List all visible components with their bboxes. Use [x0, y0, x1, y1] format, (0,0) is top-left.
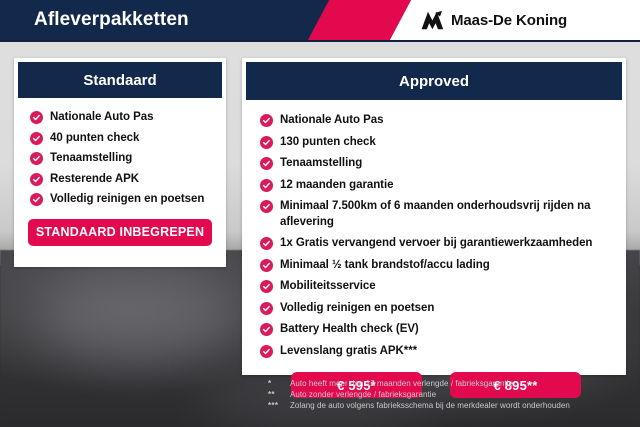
footnote-row: ***Zolang de auto volgens fabrieksschema…	[268, 401, 628, 410]
check-circle-icon	[260, 237, 273, 250]
check-circle-icon	[30, 111, 43, 124]
check-circle-icon	[260, 302, 273, 315]
check-circle-icon	[260, 157, 273, 170]
footnote-text: Auto heeft meer dan 12 maanden verlengde…	[290, 379, 513, 388]
feature-item: Tenaamstelling	[260, 156, 612, 172]
footnote-marker: ***	[268, 401, 290, 410]
approved-card-body: Nationale Auto Pas130 punten checkTenaam…	[242, 100, 626, 398]
footnote-marker: **	[268, 390, 290, 399]
feature-item: Resterende APK	[30, 172, 214, 188]
feature-label: Minimaal 7.500km of 6 maanden onderhouds…	[280, 199, 612, 230]
standaard-feature-list: Nationale Auto Pas40 punten checkTenaams…	[30, 110, 214, 208]
feature-item: Volledig reinigen en poetsen	[30, 192, 214, 208]
check-circle-icon	[30, 193, 43, 206]
footnote-marker: *	[268, 379, 290, 388]
blur-blob	[40, 270, 240, 360]
check-circle-icon	[30, 173, 43, 186]
feature-item: 130 punten check	[260, 135, 612, 151]
feature-label: Tenaamstelling	[50, 151, 132, 167]
feature-label: Volledig reinigen en poetsen	[280, 301, 434, 317]
check-circle-icon	[30, 132, 43, 145]
check-circle-icon	[260, 280, 273, 293]
page-title: Afleverpakketten	[34, 9, 189, 31]
feature-item: Battery Health check (EV)	[260, 322, 612, 338]
feature-label: Tenaamstelling	[280, 156, 362, 172]
check-circle-icon	[260, 345, 273, 358]
feature-label: Levenslang gratis APK***	[280, 344, 417, 360]
feature-label: Resterende APK	[50, 172, 139, 188]
brand-logo: Maas-De Koning	[420, 10, 567, 31]
footnote-row: *Auto heeft meer dan 12 maanden verlengd…	[268, 379, 628, 388]
feature-item: Tenaamstelling	[30, 151, 214, 167]
feature-item: 12 maanden garantie	[260, 178, 612, 194]
feature-item: Levenslang gratis APK***	[260, 344, 612, 360]
check-circle-icon	[260, 259, 273, 272]
feature-label: Battery Health check (EV)	[280, 322, 419, 338]
standaard-card-body: Nationale Auto Pas40 punten checkTenaams…	[14, 98, 226, 208]
feature-item: Minimaal ½ tank brandstof/accu lading	[260, 258, 612, 274]
feature-item: Nationale Auto Pas	[260, 113, 612, 129]
check-circle-icon	[260, 179, 273, 192]
standaard-package-card: Standaard Nationale Auto Pas40 punten ch…	[14, 58, 226, 267]
feature-label: Minimaal ½ tank brandstof/accu lading	[280, 258, 490, 274]
maas-de-koning-m-mark-icon	[420, 10, 444, 31]
standaard-card-heading: Standaard	[18, 62, 222, 98]
page-header: Afleverpakketten Maas-De Koning	[0, 0, 640, 42]
footnote-row: **Auto zonder verlengde / fabrieksgarant…	[268, 390, 628, 399]
brand-name: Maas-De Koning	[451, 12, 567, 29]
approved-feature-list: Nationale Auto Pas130 punten checkTenaam…	[260, 113, 612, 359]
feature-item: Minimaal 7.500km of 6 maanden onderhouds…	[260, 199, 612, 230]
feature-label: Volledig reinigen en poetsen	[50, 192, 204, 208]
check-circle-icon	[260, 136, 273, 149]
feature-item: 1x Gratis vervangend vervoer bij garanti…	[260, 236, 612, 252]
check-circle-icon	[260, 200, 273, 213]
check-circle-icon	[260, 323, 273, 336]
feature-label: 1x Gratis vervangend vervoer bij garanti…	[280, 236, 592, 252]
feature-item: 40 punten check	[30, 131, 214, 147]
footnote-text: Zolang de auto volgens fabrieksschema bi…	[290, 401, 570, 410]
header-underline	[0, 40, 640, 42]
feature-label: 12 maanden garantie	[280, 178, 393, 194]
approved-card-heading: Approved	[246, 62, 622, 100]
approved-package-card: Approved Nationale Auto Pas130 punten ch…	[242, 58, 626, 375]
feature-label: Nationale Auto Pas	[280, 113, 383, 129]
check-circle-icon	[260, 114, 273, 127]
footnotes-block: *Auto heeft meer dan 12 maanden verlengd…	[268, 379, 628, 412]
feature-label: 130 punten check	[280, 135, 376, 151]
feature-label: Nationale Auto Pas	[50, 110, 153, 126]
feature-label: 40 punten check	[50, 131, 139, 147]
feature-item: Mobiliteitsservice	[260, 279, 612, 295]
feature-item: Nationale Auto Pas	[30, 110, 214, 126]
footnote-text: Auto zonder verlengde / fabrieksgarantie	[290, 390, 436, 399]
check-circle-icon	[30, 152, 43, 165]
feature-item: Volledig reinigen en poetsen	[260, 301, 612, 317]
standaard-inbegrepen-button[interactable]: STANDAARD INBEGREPEN	[28, 219, 212, 246]
feature-label: Mobiliteitsservice	[280, 279, 376, 295]
